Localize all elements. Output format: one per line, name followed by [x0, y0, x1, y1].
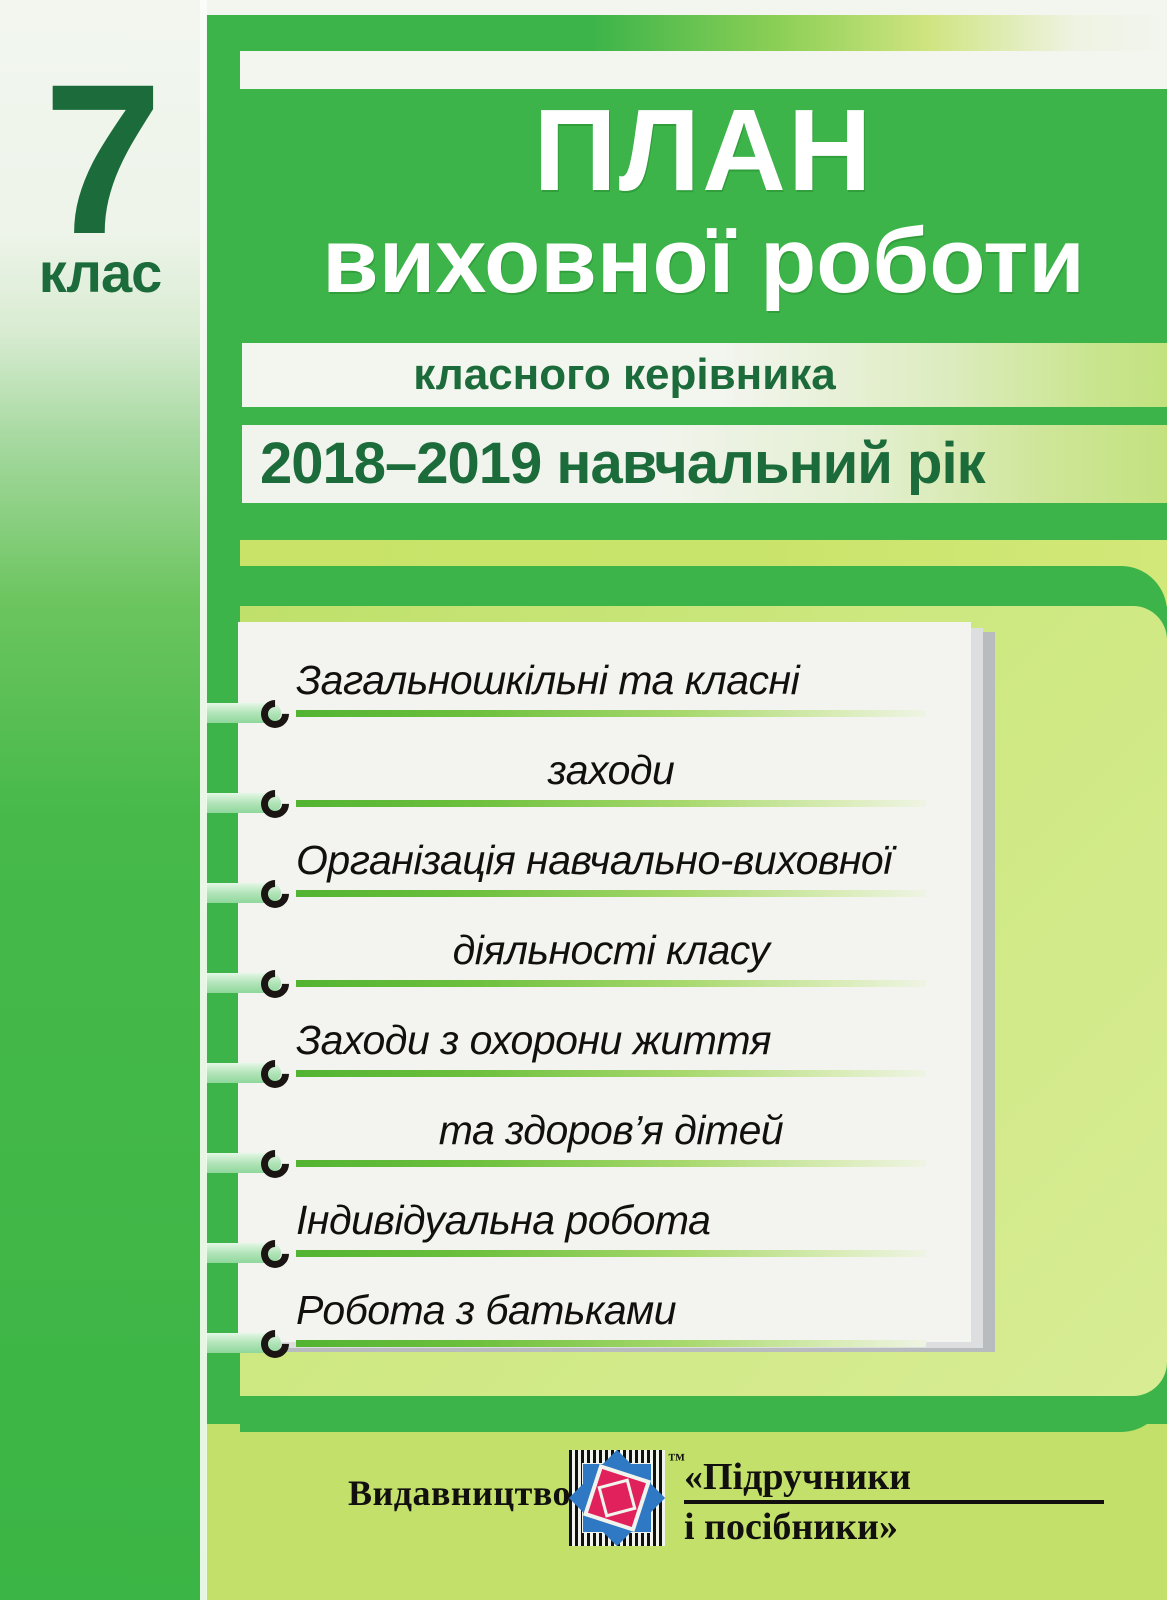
list-item-underline [296, 800, 926, 807]
list-item-underline [296, 890, 926, 897]
page-title: ПЛАН [240, 92, 1167, 208]
list-item: Загальношкільні та класні [296, 660, 926, 717]
publisher-block: Видавництво ™ «Підручники і посібники» [206, 1438, 1167, 1568]
publisher-word: Видавництво [348, 1472, 571, 1514]
trademark-icon: ™ [668, 1450, 685, 1470]
list-item: та здоров’я дітей [296, 1110, 926, 1167]
book-cover: ПЛАН виховної роботи класного керівника … [0, 0, 1167, 1600]
list-item-label: Заходи з охорони життя [296, 1020, 926, 1061]
contents-list: Загальношкільні та класнізаходиОрганізац… [238, 622, 971, 1342]
list-item-label: Робота з батьками [296, 1290, 926, 1331]
list-item: заходи [296, 750, 926, 807]
list-item-label: та здоров’я дітей [296, 1110, 926, 1151]
list-item-underline [296, 980, 926, 987]
year-text: 2018–2019 навчальний рік [242, 425, 1167, 503]
second-white-strip [240, 51, 1167, 89]
year-band: 2018–2019 навчальний рік [242, 425, 1167, 503]
publisher-name-line2: і посібники» [684, 1500, 1104, 1549]
list-item-underline [296, 1070, 926, 1077]
page-subtitle: виховної роботи [240, 215, 1167, 307]
spine-divider-line [200, 0, 207, 1600]
list-item-label: Індивідуальна робота [296, 1200, 926, 1241]
publisher-logo-icon [569, 1450, 665, 1546]
list-item: Заходи з охорони життя [296, 1020, 926, 1077]
list-item: Індивідуальна робота [296, 1200, 926, 1257]
list-item-label: заходи [296, 750, 926, 791]
list-item: Організація навчально-виховної [296, 840, 926, 897]
list-item-label: діяльності класу [296, 930, 926, 971]
list-item: Робота з батьками [296, 1290, 926, 1347]
publisher-name: «Підручники і посібники» [684, 1456, 1104, 1548]
subtitle-text: класного керівника [242, 343, 1167, 407]
list-item-label: Загальношкільні та класні [296, 660, 926, 701]
list-item-label: Організація навчально-виховної [296, 840, 926, 881]
list-item: діяльності класу [296, 930, 926, 987]
grade-number: 7 [0, 62, 200, 259]
grade-label: клас [0, 240, 200, 305]
subtitle-band: класного керівника [242, 343, 1167, 407]
publisher-name-line1: «Підручники [684, 1456, 1104, 1499]
list-item-underline [296, 1250, 926, 1257]
top-gradient-strip [240, 15, 1167, 51]
list-item-underline [296, 1340, 926, 1347]
list-item-underline [296, 1160, 926, 1167]
list-item-underline [296, 710, 926, 717]
top-white-strip [206, 0, 1167, 15]
